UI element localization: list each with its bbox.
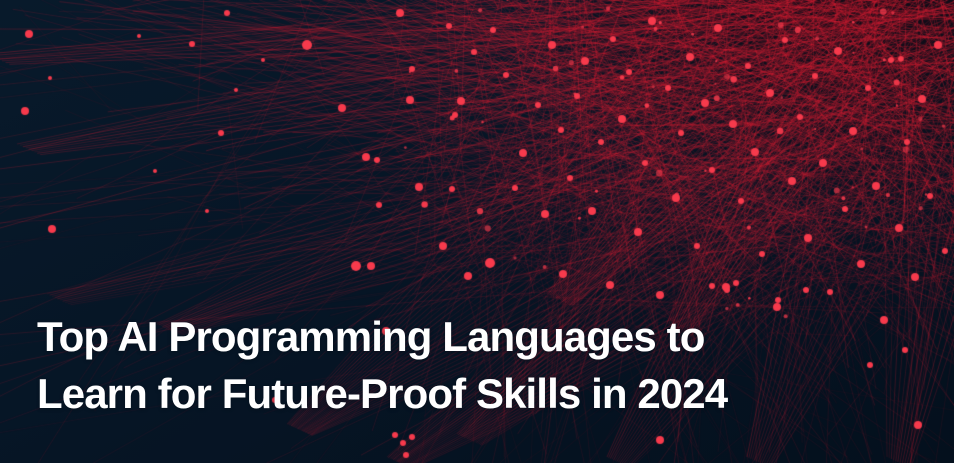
page-title-line-1: Top AI Programming Languages to xyxy=(37,308,927,365)
page-title-line-2: Learn for Future-Proof Skills in 2024 xyxy=(37,365,927,422)
page-title: Top AI Programming Languages to Learn fo… xyxy=(37,308,927,422)
hero-banner: Top AI Programming Languages to Learn fo… xyxy=(0,0,954,463)
